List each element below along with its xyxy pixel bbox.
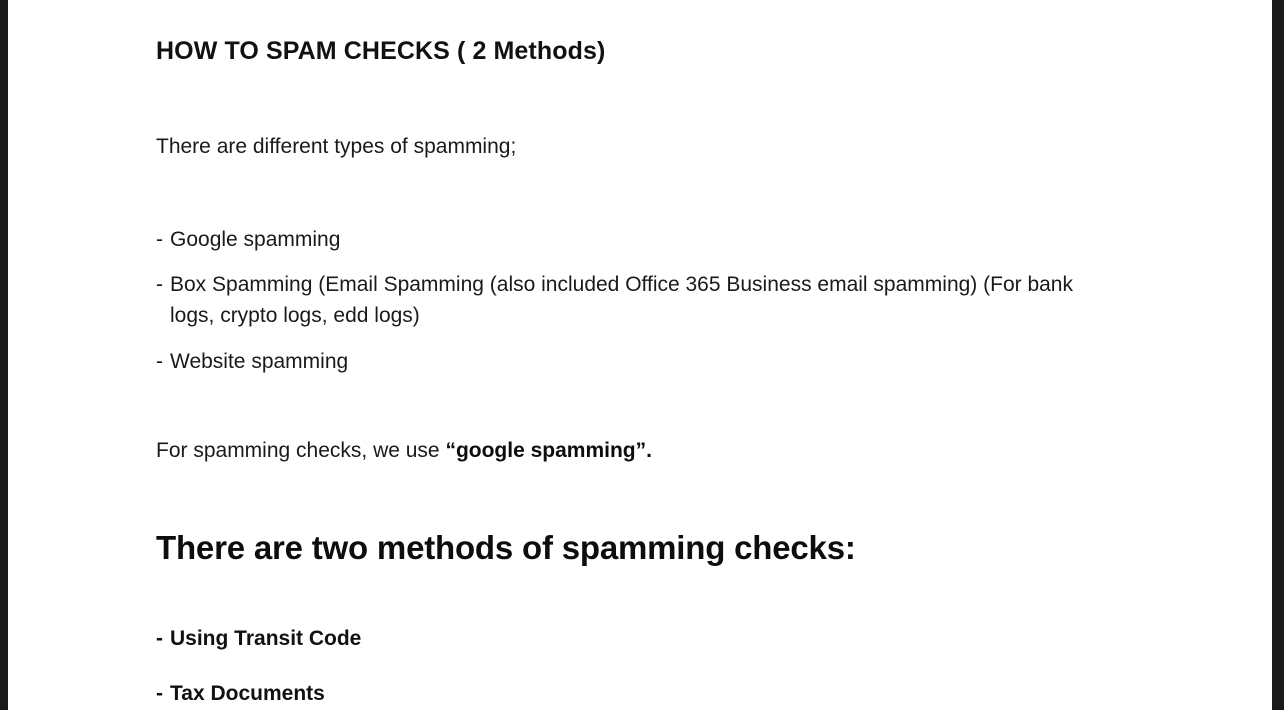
- bullet-marker: -: [156, 679, 170, 710]
- bullet-marker: -: [156, 270, 170, 301]
- usage-prefix: For spamming checks, we use: [156, 439, 445, 462]
- left-gutter: [8, 0, 24, 710]
- spamming-types-list: - Google spamming - Box Spamming (Email …: [156, 162, 1252, 378]
- list-item-label: Using Transit Code: [170, 624, 1081, 655]
- document-page-frame: HOW TO SPAM CHECKS ( 2 Methods) There ar…: [0, 0, 1284, 710]
- list-item-label: Box Spamming (Email Spamming (also inclu…: [170, 270, 1081, 331]
- intro-paragraph: There are different types of spamming;: [156, 67, 1252, 161]
- list-item: - Using Transit Code: [156, 624, 1081, 655]
- list-item: - Box Spamming (Email Spamming (also inc…: [156, 270, 1081, 331]
- methods-heading: There are two methods of spamming checks…: [156, 466, 1252, 568]
- list-item-label: Website spamming: [170, 347, 1081, 378]
- list-item: - Google spamming: [156, 225, 1081, 256]
- bullet-marker: -: [156, 225, 170, 256]
- document-text-body: HOW TO SPAM CHECKS ( 2 Methods) There ar…: [156, 0, 1252, 710]
- usage-paragraph: For spamming checks, we use “google spam…: [156, 377, 1252, 465]
- list-item: - Website spamming: [156, 347, 1081, 378]
- list-item: - Tax Documents: [156, 679, 1081, 710]
- bullet-marker: -: [156, 347, 170, 378]
- list-item-label: Tax Documents: [170, 679, 1081, 710]
- list-item-label: Google spamming: [170, 225, 1081, 256]
- usage-emphasis: “google spamming”.: [445, 439, 652, 462]
- methods-list: - Using Transit Code - Tax Documents: [156, 567, 1252, 709]
- left-edge-band: [0, 0, 8, 710]
- right-edge-band: [1272, 0, 1284, 710]
- bullet-marker: -: [156, 624, 170, 655]
- document-title: HOW TO SPAM CHECKS ( 2 Methods): [156, 0, 1252, 67]
- document-canvas: HOW TO SPAM CHECKS ( 2 Methods) There ar…: [24, 0, 1272, 710]
